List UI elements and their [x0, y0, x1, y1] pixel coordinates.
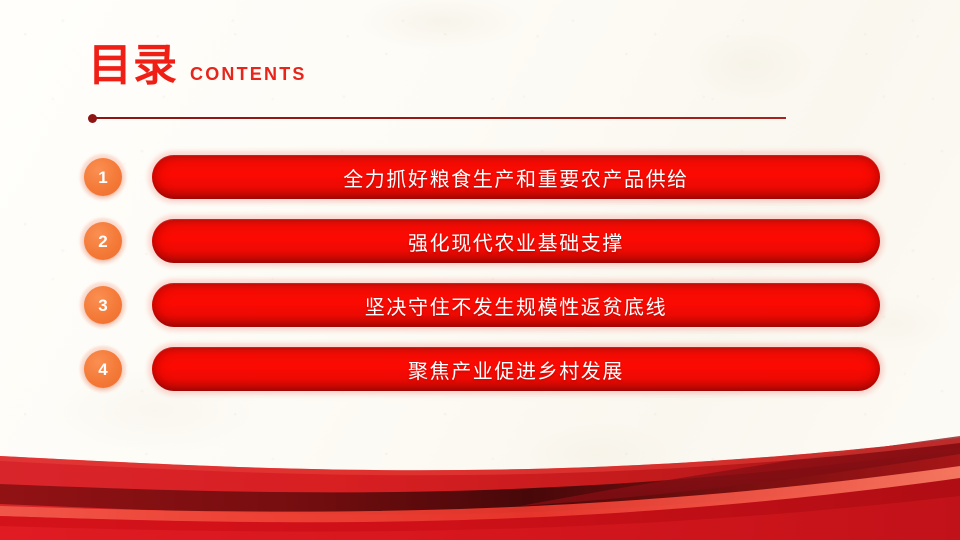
page-title-chinese: 目录: [88, 44, 178, 88]
toc-pill-1[interactable]: 全力抓好粮食生产和重要农产品供给: [152, 155, 880, 199]
toc-badge-3: 3: [80, 282, 126, 328]
toc-pill-2[interactable]: 强化现代农业基础支撑: [152, 219, 880, 263]
toc-list: 1 全力抓好粮食生产和重要农产品供给 2 强化现代农业基础支撑: [80, 155, 880, 391]
badge-number-circle: 2: [84, 222, 122, 260]
divider-rule: [92, 117, 786, 119]
badge-number-circle: 1: [84, 158, 122, 196]
list-item[interactable]: 4 聚焦产业促进乡村发展: [80, 347, 880, 391]
toc-item-label: 强化现代农业基础支撑: [408, 227, 624, 256]
ribbon-graphic: [0, 410, 960, 540]
slide-header: 目录 CONTENTS: [88, 44, 307, 88]
bottom-ribbon-decoration: [0, 410, 960, 540]
badge-number-circle: 3: [84, 286, 122, 324]
pill-body[interactable]: 强化现代农业基础支撑: [152, 219, 880, 263]
list-item[interactable]: 1 全力抓好粮食生产和重要农产品供给: [80, 155, 880, 199]
pill-body[interactable]: 坚决守住不发生规模性返贫底线: [152, 283, 880, 327]
toc-pill-4[interactable]: 聚焦产业促进乡村发展: [152, 347, 880, 391]
toc-item-label: 全力抓好粮食生产和重要农产品供给: [343, 163, 689, 192]
toc-pill-3[interactable]: 坚决守住不发生规模性返贫底线: [152, 283, 880, 327]
slide-canvas: 目录 CONTENTS 1 全力抓好粮食生产和重要农产品供给 2: [0, 0, 960, 540]
header-title-row: 目录 CONTENTS: [88, 44, 307, 88]
toc-item-label: 坚决守住不发生规模性返贫底线: [365, 291, 667, 320]
toc-badge-1: 1: [80, 154, 126, 200]
list-item[interactable]: 3 坚决守住不发生规模性返贫底线: [80, 283, 880, 327]
toc-item-label: 聚焦产业促进乡村发展: [408, 355, 624, 384]
list-item[interactable]: 2 强化现代农业基础支撑: [80, 219, 880, 263]
pill-body[interactable]: 全力抓好粮食生产和重要农产品供给: [152, 155, 880, 199]
pill-body[interactable]: 聚焦产业促进乡村发展: [152, 347, 880, 391]
page-title-english: CONTENTS: [190, 64, 307, 85]
header-divider: [88, 113, 786, 123]
toc-badge-4: 4: [80, 346, 126, 392]
badge-number-circle: 4: [84, 350, 122, 388]
toc-badge-2: 2: [80, 218, 126, 264]
